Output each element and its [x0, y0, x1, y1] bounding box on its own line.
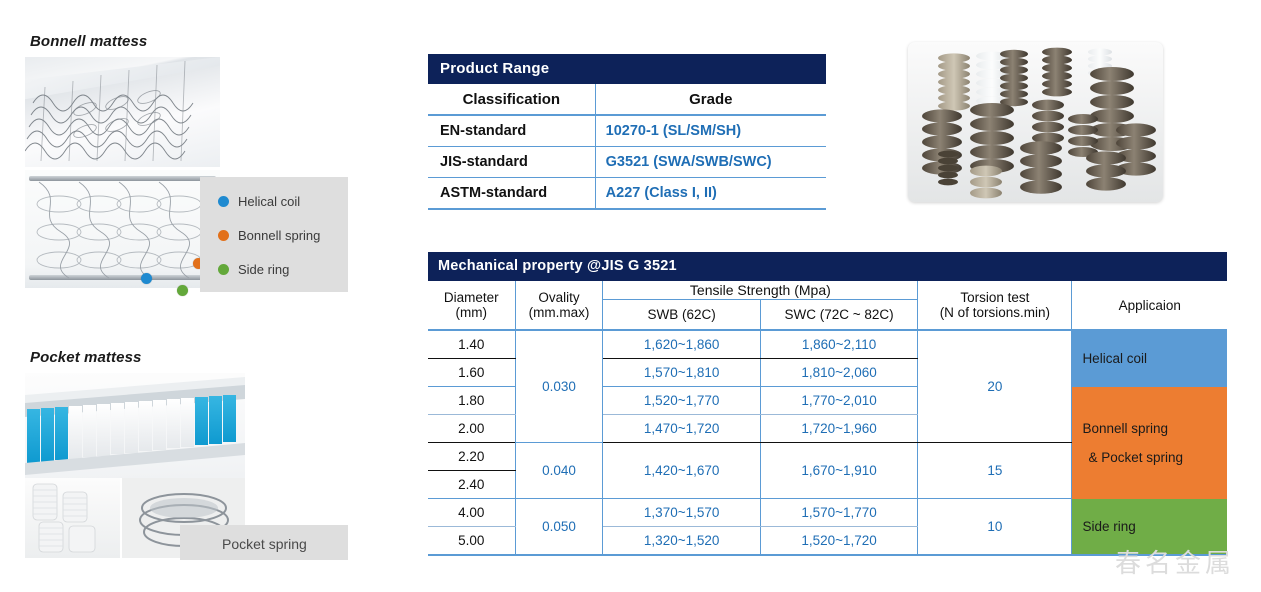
- header-swb: SWB (62C): [603, 300, 760, 331]
- application-label-line2: & Pocket spring: [1082, 450, 1226, 465]
- compression-springs-photo: [908, 42, 1163, 202]
- legend-label: Bonnell spring: [238, 228, 320, 243]
- left-image-column: Bonnell mattess: [0, 0, 400, 592]
- product-range-title: Product Range: [428, 54, 826, 84]
- pocket-spring-stack-photo: [25, 478, 120, 558]
- header-application: Applicaion: [1072, 281, 1227, 330]
- legend-label: Helical coil: [238, 194, 300, 209]
- header-tensile-strength: Tensile Strength (Mpa): [603, 281, 918, 300]
- legend-dot-icon: [218, 264, 229, 275]
- cell-ovality: 0.030: [515, 330, 603, 443]
- cell-diameter: 2.20: [428, 443, 515, 471]
- cell-swc: 1,670~1,910: [760, 443, 917, 499]
- header-ovality: Ovality (mm.max): [515, 281, 603, 330]
- cell-swb: 1,620~1,860: [603, 330, 760, 359]
- pocket-spring-stack-illustration: [25, 478, 120, 558]
- header-diameter-line1: Diameter: [429, 290, 514, 305]
- mechanical-property-title: Mechanical property @JIS G 3521: [428, 252, 1227, 281]
- header-ovality-line2: (mm.max): [517, 305, 602, 320]
- table-row: JIS-standard G3521 (SWA/SWB/SWC): [428, 147, 826, 178]
- table-row: 4.00 0.050 1,370~1,570 1,570~1,770 10 Si…: [428, 499, 1227, 527]
- marker-side-ring: [177, 285, 188, 296]
- product-range-table: Product Range Classification Grade EN-st…: [428, 54, 826, 210]
- cell-diameter: 2.40: [428, 471, 515, 499]
- legend-dot-icon: [218, 230, 229, 241]
- product-range-header-row: Classification Grade: [428, 84, 826, 115]
- cell-swc: 1,720~1,960: [760, 415, 917, 443]
- cell-diameter: 5.00: [428, 527, 515, 556]
- cell-application-bonnell-pocket-spring: Bonnell spring & Pocket spring: [1072, 387, 1227, 499]
- cell-diameter: 4.00: [428, 499, 515, 527]
- header-diameter-line2: (mm): [429, 305, 514, 320]
- legend-dot-icon: [218, 196, 229, 207]
- header-swc: SWC (72C ~ 82C): [760, 300, 917, 331]
- cell-swc: 1,810~2,060: [760, 359, 917, 387]
- pocket-spring-caption: Pocket spring: [222, 536, 307, 552]
- pocket-mattress-illustration: [25, 373, 245, 478]
- watermark: 春名金属: [1115, 543, 1235, 580]
- cell-classification: ASTM-standard: [428, 178, 595, 210]
- pocket-mattress-title: Pocket mattess: [30, 349, 141, 366]
- cell-grade: G3521 (SWA/SWB/SWC): [595, 147, 826, 178]
- cell-grade: A227 (Class I, II): [595, 178, 826, 210]
- cell-swb: 1,370~1,570: [603, 499, 760, 527]
- cell-classification: EN-standard: [428, 115, 595, 147]
- legend-item-side-ring: Side ring: [218, 262, 289, 277]
- spring-unit-illustration: [25, 170, 220, 288]
- bonnell-mattress-title: Bonnell mattess: [30, 33, 147, 50]
- springs-illustration: [908, 42, 1163, 202]
- cell-swb: 1,320~1,520: [603, 527, 760, 556]
- cell-swb: 1,570~1,810: [603, 359, 760, 387]
- cell-diameter: 2.00: [428, 415, 515, 443]
- legend-item-bonnell-spring: Bonnell spring: [218, 228, 320, 243]
- header-classification: Classification: [428, 84, 595, 115]
- cell-diameter: 1.60: [428, 359, 515, 387]
- header-ovality-line1: Ovality: [517, 290, 602, 305]
- cell-application-helical-coil: Helical coil: [1072, 330, 1227, 387]
- cell-swb: 1,470~1,720: [603, 415, 760, 443]
- cell-classification: JIS-standard: [428, 147, 595, 178]
- mech-header-row-1: Diameter (mm) Ovality (mm.max) Tensile S…: [428, 281, 1227, 300]
- header-grade: Grade: [595, 84, 826, 115]
- legend-item-helical-coil: Helical coil: [218, 194, 300, 209]
- legend: Helical coil Bonnell spring Side ring: [200, 177, 348, 292]
- cell-swc: 1,520~1,720: [760, 527, 917, 556]
- cell-swb: 1,420~1,670: [603, 443, 760, 499]
- bonnell-spring-unit-photo: [25, 170, 220, 288]
- header-torsion-line2: (N of torsions.min): [919, 305, 1070, 320]
- table-row: ASTM-standard A227 (Class I, II): [428, 178, 826, 210]
- application-label-line1: Bonnell spring: [1082, 421, 1226, 436]
- cell-torsion: 20: [918, 330, 1072, 443]
- header-torsion-test: Torsion test (N of torsions.min): [918, 281, 1072, 330]
- cell-swc: 1,860~2,110: [760, 330, 917, 359]
- cell-swc: 1,770~2,010: [760, 387, 917, 415]
- bonnell-mattress-photo: [25, 57, 220, 167]
- cell-ovality: 0.040: [515, 443, 603, 499]
- cell-swb: 1,520~1,770: [603, 387, 760, 415]
- header-diameter: Diameter (mm): [428, 281, 515, 330]
- cell-swc: 1,570~1,770: [760, 499, 917, 527]
- cell-grade: 10270-1 (SL/SM/SH): [595, 115, 826, 147]
- cell-torsion: 10: [918, 499, 1072, 556]
- cell-diameter: 1.40: [428, 330, 515, 359]
- pocket-mattress-photo: [25, 373, 245, 478]
- cell-diameter: 1.80: [428, 387, 515, 415]
- legend-label: Side ring: [238, 262, 289, 277]
- header-torsion-line1: Torsion test: [919, 290, 1070, 305]
- bonnell-coil-illustration: [25, 57, 220, 167]
- table-row: EN-standard 10270-1 (SL/SM/SH): [428, 115, 826, 147]
- cell-torsion: 15: [918, 443, 1072, 499]
- cell-ovality: 0.050: [515, 499, 603, 556]
- mechanical-property-table: Mechanical property @JIS G 3521 Diameter…: [428, 252, 1227, 556]
- marker-helical-coil: [141, 273, 152, 284]
- table-row: 1.40 0.030 1,620~1,860 1,860~2,110 20 He…: [428, 330, 1227, 359]
